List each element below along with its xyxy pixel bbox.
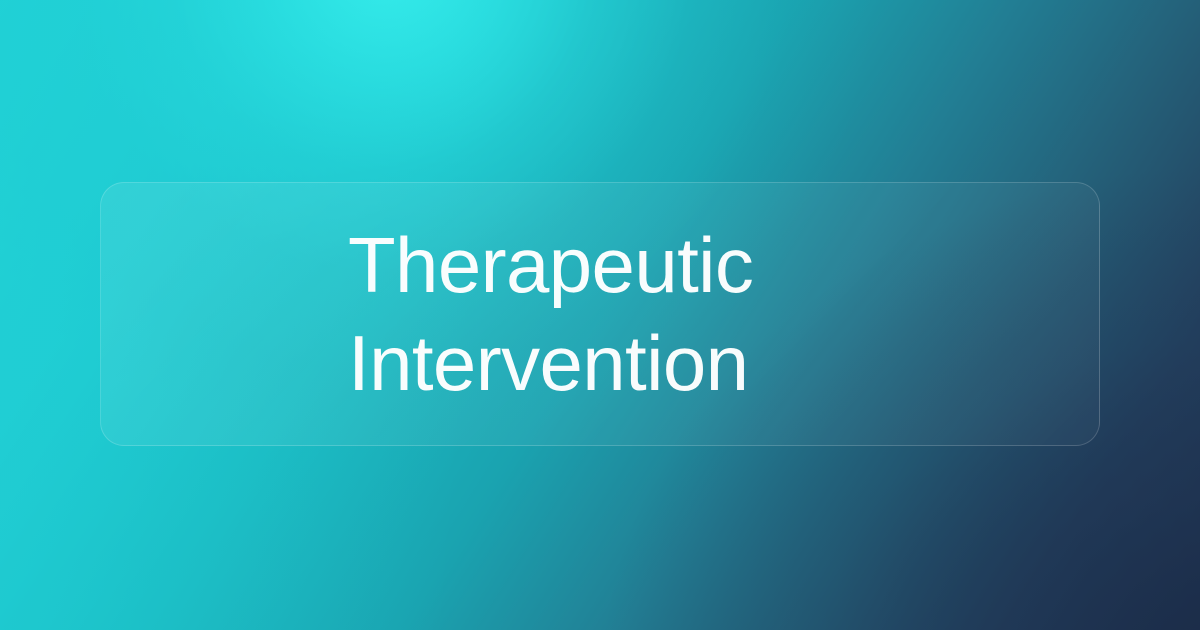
hero-canvas: Therapeutic Intervention [0,0,1200,630]
page-title: Therapeutic Intervention [348,216,808,412]
content-card: Therapeutic Intervention [100,182,1100,446]
